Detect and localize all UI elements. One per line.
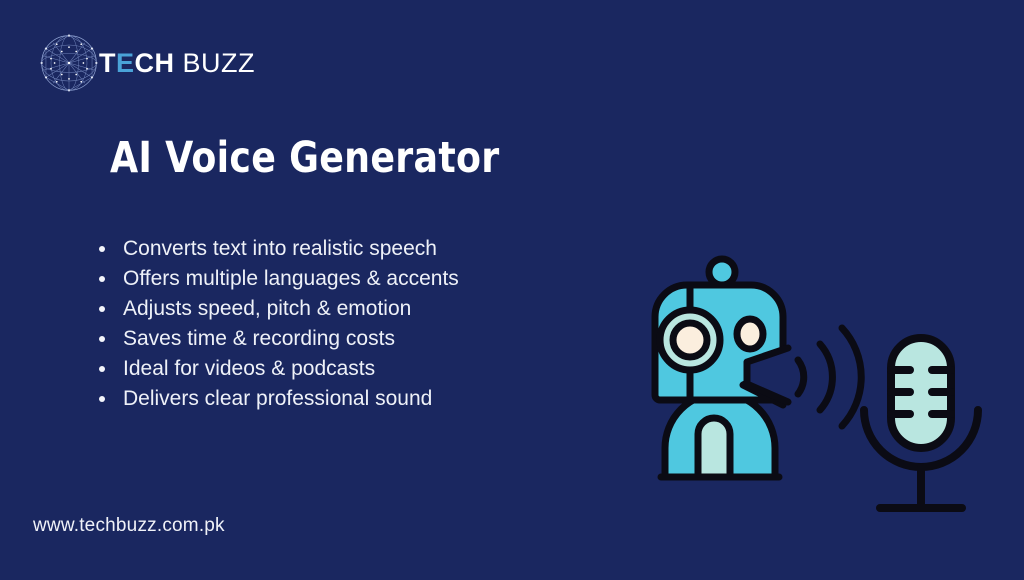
bullet-dot-icon [99, 396, 105, 402]
logo-text-ch: CH [135, 48, 175, 78]
speaking-robot-icon [655, 259, 788, 477]
robot-left-eye-inner [673, 323, 707, 357]
bullet-dot-icon [99, 306, 105, 312]
sound-wave-arc-3 [842, 328, 861, 426]
brand-logo-text: TECH BUZZ [99, 50, 255, 77]
bullet-dot-icon [99, 336, 105, 342]
sound-wave-arc-2 [820, 344, 832, 410]
robot-right-eye [737, 319, 763, 349]
brand-logo[interactable]: TECH BUZZ [33, 27, 255, 99]
logo-text-buzz: BUZZ [175, 48, 256, 78]
list-item: Ideal for videos & podcasts [96, 354, 459, 384]
feature-list: Converts text into realistic speech Offe… [96, 234, 459, 414]
bullet-dot-icon [99, 276, 105, 282]
website-url[interactable]: www.techbuzz.com.pk [33, 515, 225, 537]
list-item-label: Saves time & recording costs [123, 327, 395, 350]
illustration-group [648, 252, 994, 542]
list-item-label: Ideal for videos & podcasts [123, 357, 375, 380]
list-item: Delivers clear professional sound [96, 384, 459, 414]
list-item: Offers multiple languages & accents [96, 264, 459, 294]
page-title: AI Voice Generator [110, 133, 500, 183]
logo-text-e-highlight: E [116, 48, 135, 78]
list-item-label: Adjusts speed, pitch & emotion [123, 297, 411, 320]
robot-antenna-ball [709, 259, 735, 285]
list-item-label: Offers multiple languages & accents [123, 267, 459, 290]
sound-wave-arcs [798, 328, 861, 426]
list-item: Adjusts speed, pitch & emotion [96, 294, 459, 324]
globe-network-icon [33, 27, 105, 99]
list-item: Saves time & recording costs [96, 324, 459, 354]
microphone-icon [864, 338, 978, 508]
robot-body-panel [698, 418, 730, 477]
bullet-dot-icon [99, 366, 105, 372]
list-item-label: Converts text into realistic speech [123, 237, 437, 260]
bullet-dot-icon [99, 246, 105, 252]
corner-swoosh-decoration [709, 0, 1024, 260]
list-item: Converts text into realistic speech [96, 234, 459, 264]
sound-wave-arc-1 [798, 360, 804, 394]
logo-text-t: T [99, 48, 116, 78]
poster-canvas: TECH BUZZ AI Voice Generator Converts te… [0, 0, 1024, 580]
list-item-label: Delivers clear professional sound [123, 387, 432, 410]
